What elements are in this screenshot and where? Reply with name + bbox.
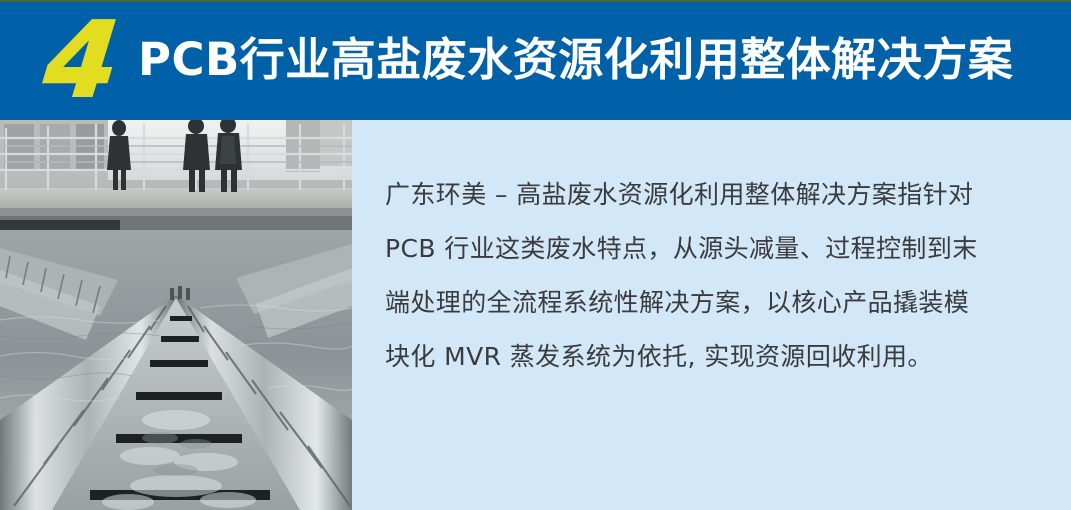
description-line-3: 端处理的全流程系统性解决方案，以核心产品撬装模 [385, 276, 1005, 330]
description-panel: 广东环美 – 高盐废水资源化利用整体解决方案指针对 PCB 行业这类废水特点，从… [352, 120, 1071, 510]
page-title: PCB行业高盐废水资源化利用整体解决方案 [138, 28, 1013, 92]
header-top-divider [0, 0, 1071, 2]
description-line-1: 广东环美 – 高盐废水资源化利用整体解决方案指针对 [385, 168, 1005, 222]
slide-root: 4 PCB行业高盐废水资源化利用整体解决方案 [0, 0, 1071, 510]
wastewater-basin-photo [0, 120, 352, 510]
description-line-2: PCB 行业这类废水特点，从源头减量、过程控制到末 [385, 222, 1005, 276]
description-text: 广东环美 – 高盐废水资源化利用整体解决方案指针对 PCB 行业这类废水特点，从… [385, 168, 1005, 384]
section-number: 4 [21, 10, 142, 110]
header-bar: 4 PCB行业高盐废水资源化利用整体解决方案 [0, 0, 1071, 120]
description-line-4: 块化 MVR 蒸发系统为依托, 实现资源回收利用。 [385, 330, 1005, 384]
photo-illustration [0, 120, 352, 510]
